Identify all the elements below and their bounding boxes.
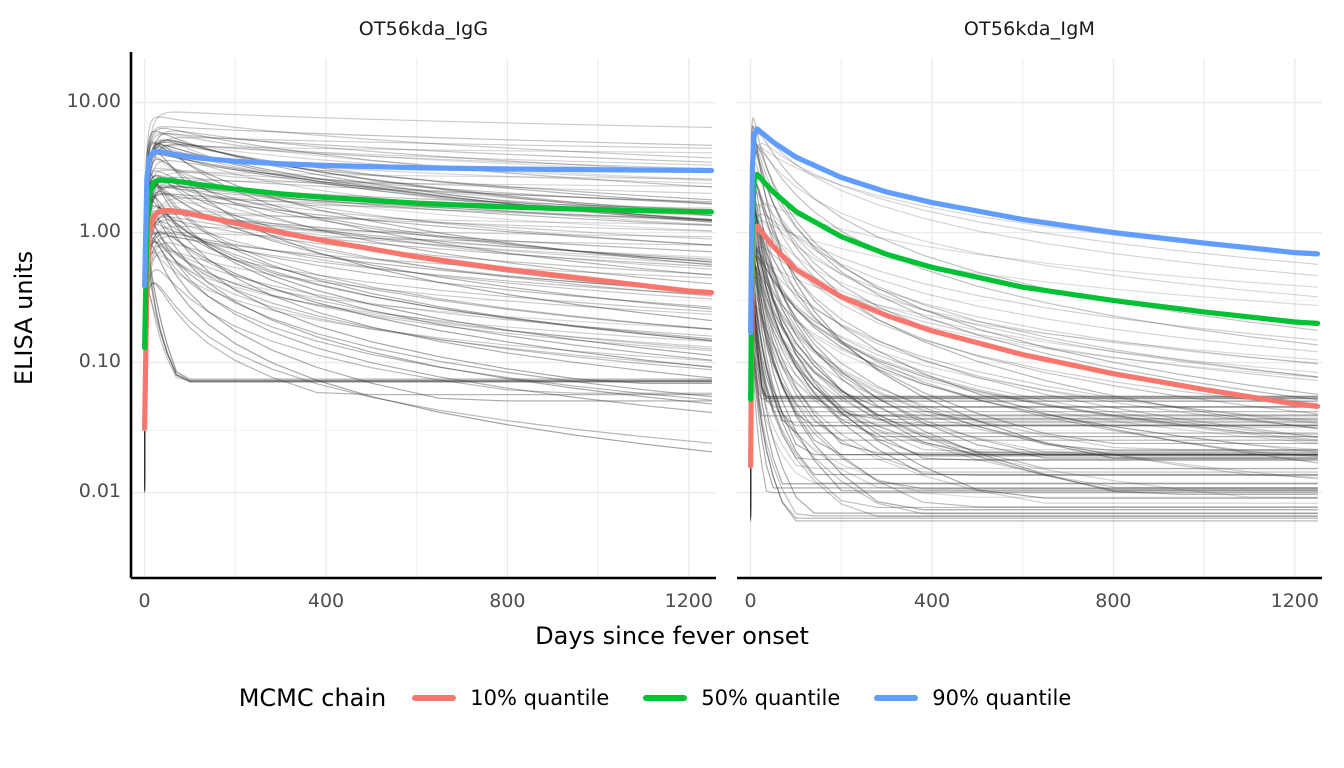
plot-area: [0, 0, 1344, 610]
legend-item[interactable]: 90% quantile: [874, 686, 1071, 710]
x-tick-label: 400: [914, 590, 950, 612]
legend-title: MCMC chain: [239, 684, 387, 712]
legend-key-swatch: [874, 695, 918, 701]
y-tick-label: 1.00: [0, 220, 121, 242]
y-tick-label: 0.01: [0, 480, 121, 502]
legend-key-swatch: [643, 695, 687, 701]
legend-item[interactable]: 50% quantile: [643, 686, 840, 710]
x-tick-label: 0: [139, 590, 151, 612]
x-tick-label: 800: [1095, 590, 1131, 612]
legend-item-label: 90% quantile: [932, 686, 1071, 710]
chart-figure: OT56kda_IgG OT56kda_IgM ELISA units Days…: [0, 0, 1344, 768]
x-tick-label: 800: [489, 590, 525, 612]
y-tick-label: 0.10: [0, 350, 121, 372]
legend-item-label: 10% quantile: [470, 686, 609, 710]
x-tick-label: 1200: [665, 590, 713, 612]
legend-items: 10% quantile50% quantile90% quantile: [412, 686, 1105, 710]
x-tick-label: 0: [745, 590, 757, 612]
x-tick-label: 400: [308, 590, 344, 612]
legend-item[interactable]: 10% quantile: [412, 686, 609, 710]
legend-item-label: 50% quantile: [701, 686, 840, 710]
legend-key-swatch: [412, 695, 456, 701]
y-tick-label: 10.00: [0, 90, 121, 112]
chart-legend: MCMC chain 10% quantile50% quantile90% q…: [0, 684, 1344, 712]
x-axis-title: Days since fever onset: [0, 622, 1344, 650]
x-tick-label: 1200: [1271, 590, 1319, 612]
